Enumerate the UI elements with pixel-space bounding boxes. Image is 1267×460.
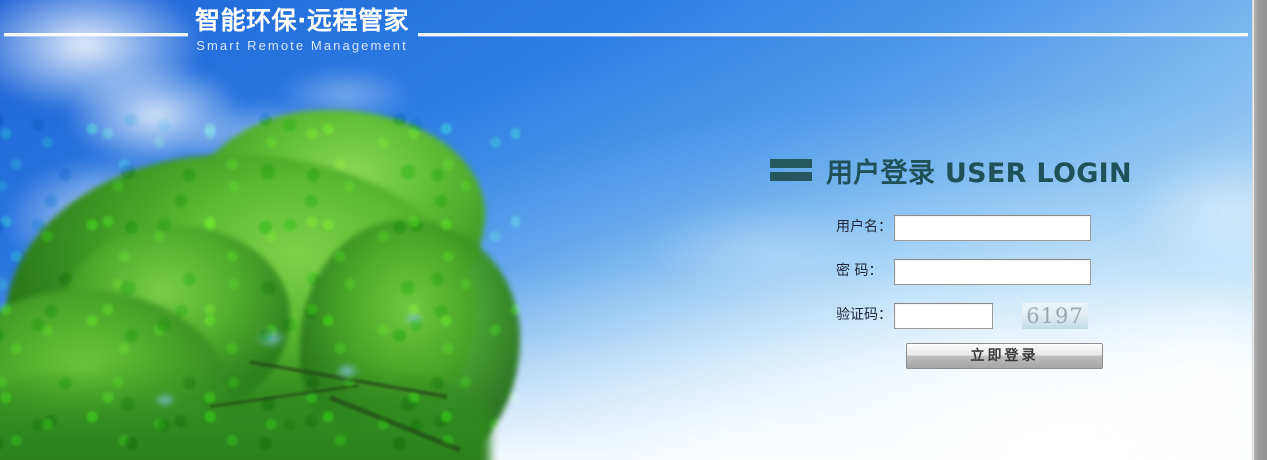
page-header: 智能环保·远程管家 Smart Remote Management — [0, 0, 1252, 62]
username-input[interactable] — [894, 215, 1091, 241]
login-title-label: 用户登录 USER LOGIN — [826, 151, 1132, 190]
leaf-texture — [0, 100, 520, 460]
vertical-scrollbar[interactable] — [1252, 0, 1267, 460]
form-row-password: 密 码： — [836, 259, 1170, 285]
captcha-label: 验证码： — [836, 303, 894, 324]
form-row-submit: 立即登录 — [836, 343, 1170, 369]
double-bar-icon-top — [770, 159, 812, 168]
header-divider-left — [4, 33, 188, 36]
captcha-image[interactable]: 6197 — [1022, 303, 1088, 329]
form-row-captcha: 验证码： 6197 — [836, 303, 1170, 329]
double-bar-icon-bottom — [770, 172, 812, 181]
login-title: 用户登录 USER LOGIN — [770, 150, 1170, 190]
brand-subtitle-en: Smart Remote Management — [188, 38, 416, 54]
username-label: 用户名： — [836, 215, 894, 236]
login-submit-button[interactable]: 立即登录 — [906, 343, 1103, 369]
double-bar-icon — [770, 159, 812, 181]
login-panel: 用户登录 USER LOGIN 用户名： 密 码： 验证码： 6197 — [770, 150, 1170, 387]
form-row-username: 用户名： — [836, 215, 1170, 241]
header-divider-right — [418, 33, 1248, 36]
page-background: 智能环保·远程管家 Smart Remote Management 用户登录 U… — [0, 0, 1252, 460]
scrollbar-thumb[interactable] — [1254, 0, 1267, 460]
captcha-input[interactable] — [894, 303, 993, 329]
login-page-screen: 智能环保·远程管家 Smart Remote Management 用户登录 U… — [0, 0, 1267, 460]
login-form: 用户名： 密 码： 验证码： 6197 立即登录 — [836, 215, 1170, 369]
tree-illustration — [0, 60, 520, 460]
password-label: 密 码： — [836, 259, 894, 280]
password-input[interactable] — [894, 259, 1091, 285]
brand-title-cn: 智能环保·远程管家 — [188, 6, 416, 36]
brand-logo: 智能环保·远程管家 Smart Remote Management — [188, 6, 416, 54]
